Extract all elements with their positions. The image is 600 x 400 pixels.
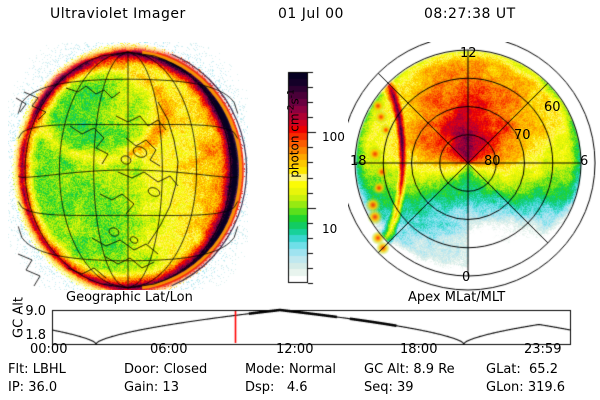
mlat-label-60: 60 bbox=[544, 100, 561, 115]
status-dsp: Dsp: 4.6 bbox=[245, 380, 308, 395]
geographic-aurora-image[interactable] bbox=[8, 42, 248, 290]
geographic-image-panel[interactable] bbox=[8, 42, 248, 290]
orbit-ytick-max: 9.0 bbox=[12, 304, 46, 319]
orbit-xtick-2: 12:00 bbox=[276, 342, 313, 357]
status-seq: Seq: 39 bbox=[364, 380, 414, 395]
colorbar-tick-100: 100 bbox=[322, 130, 345, 144]
mlat-label-80: 80 bbox=[484, 154, 501, 169]
orbit-xtick-0: 00:00 bbox=[30, 342, 67, 357]
status-glat: GLat: 65.2 bbox=[486, 362, 558, 377]
status-door: Door: Closed bbox=[124, 362, 207, 377]
orbit-ytick-min: 1.8 bbox=[12, 328, 46, 343]
caption-apex: Apex MLat/MLT bbox=[408, 290, 505, 305]
colorbar-gradient bbox=[256, 60, 348, 292]
orbit-xtick-3: 18:00 bbox=[400, 342, 437, 357]
apex-polar-panel[interactable]: 12 6 0 18 60 70 80 bbox=[348, 42, 596, 292]
status-gc-alt: GC Alt: 8.9 Re bbox=[364, 362, 455, 377]
mlt-label-18: 18 bbox=[350, 154, 367, 169]
status-bar: Flt: LBHL Door: Closed Mode: Normal GC A… bbox=[0, 362, 600, 400]
header-bar: Ultraviolet Imager 01 Jul 00 08:27:38 UT bbox=[0, 4, 600, 28]
orbit-xtick-1: 06:00 bbox=[150, 342, 187, 357]
uvi-display-window: Ultraviolet Imager 01 Jul 00 08:27:38 UT… bbox=[0, 0, 600, 400]
colorbar-tick-10: 10 bbox=[322, 222, 337, 236]
status-glon: GLon: 319.6 bbox=[486, 380, 565, 395]
status-gain: Gain: 13 bbox=[124, 380, 179, 395]
page-title: Ultraviolet Imager bbox=[50, 6, 186, 22]
orbit-altitude-panel[interactable]: GC Alt 9.0 1.8 00:00 06:00 12:00 18:00 2… bbox=[0, 306, 600, 356]
colorbar-panel: photon cm-2s-1 100 10 bbox=[256, 60, 348, 292]
status-mode: Mode: Normal bbox=[245, 362, 336, 377]
mlt-label-12: 12 bbox=[460, 46, 477, 61]
orbit-xtick-4: 23:59 bbox=[524, 342, 561, 357]
status-ip: IP: 36.0 bbox=[8, 380, 57, 395]
mlat-label-70: 70 bbox=[514, 128, 531, 143]
mlt-label-6: 6 bbox=[580, 154, 588, 169]
observation-date: 01 Jul 00 bbox=[278, 6, 344, 22]
apex-aurora-polar-image[interactable] bbox=[348, 42, 596, 292]
mlt-label-0: 0 bbox=[462, 270, 470, 285]
status-flt: Flt: LBHL bbox=[8, 362, 66, 377]
colorbar-axis-label: photon cm-2s-1 bbox=[287, 74, 302, 194]
caption-geographic: Geographic Lat/Lon bbox=[66, 290, 193, 305]
observation-time: 08:27:38 UT bbox=[424, 6, 516, 22]
